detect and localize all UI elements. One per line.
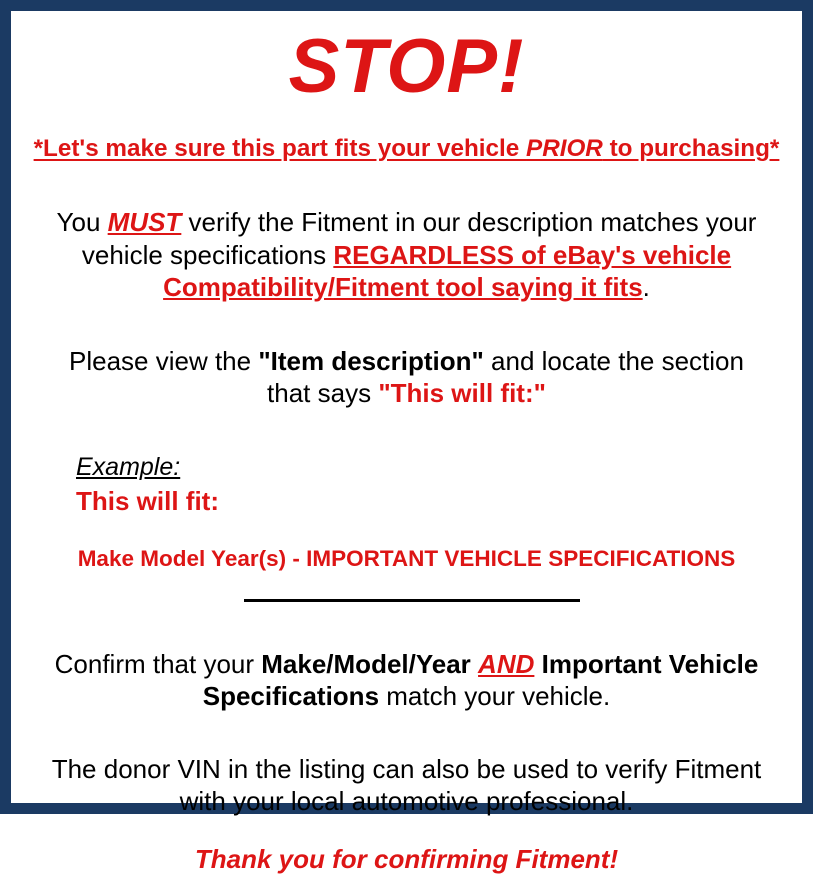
verify-tagline: *Let's make sure this part fits your veh…	[28, 135, 785, 163]
tagline-prior-emphasis: PRIOR	[526, 135, 603, 162]
stop-headline: STOP!	[24, 29, 789, 105]
example-this-will-fit-heading: This will fit:	[76, 485, 789, 518]
item-description-emphasis: "Item description"	[258, 346, 483, 376]
must-paragraph-period: .	[643, 272, 650, 302]
please-view-paragraph: Please view the "Item description" and l…	[24, 345, 789, 410]
make-model-year-emphasis: Make/Model/Year	[261, 649, 471, 679]
divider-rule	[244, 599, 580, 602]
example-block: Example: This will fit:	[24, 454, 789, 518]
confirm-space-1	[471, 649, 478, 679]
notice-content: STOP! *Let's make sure this part fits yo…	[24, 29, 789, 821]
fitment-notice-card: STOP! *Let's make sure this part fits yo…	[0, 0, 813, 814]
example-label: Example:	[76, 454, 789, 482]
tagline-lead-text: *Let's make sure this part fits your veh…	[34, 135, 526, 162]
tagline-tail-text: to purchasing*	[603, 135, 780, 162]
please-paragraph-lead: Please view the	[69, 346, 258, 376]
this-will-fit-quote: "This will fit:"	[378, 378, 546, 408]
donor-vin-paragraph: The donor VIN in the listing can also be…	[24, 753, 789, 818]
must-paragraph-lead: You	[57, 207, 108, 237]
confirm-paragraph-lead: Confirm that your	[55, 649, 262, 679]
example-spec-line: Make Model Year(s) - IMPORTANT VEHICLE S…	[24, 546, 789, 572]
confirm-paragraph: Confirm that your Make/Model/Year AND Im…	[24, 648, 789, 713]
must-verify-paragraph: You MUST verify the Fitment in our descr…	[24, 206, 789, 304]
confirm-space-2	[534, 649, 541, 679]
confirm-paragraph-tail: match your vehicle.	[379, 681, 610, 711]
closing-thank-you: Thank you for confirming Fitment!	[24, 844, 789, 875]
and-emphasis: AND	[478, 649, 534, 679]
must-emphasis: MUST	[108, 207, 182, 237]
section-divider	[24, 594, 789, 608]
